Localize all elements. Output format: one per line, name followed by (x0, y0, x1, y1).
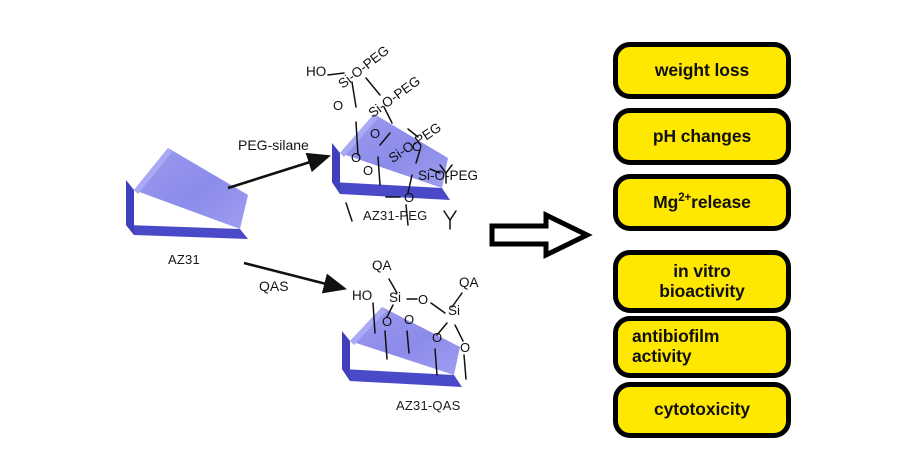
chem-label-si-qas-2: Si (448, 303, 460, 318)
chem-label-si-qas-1: Si (389, 290, 401, 305)
outcome-mg-symbol: Mg (653, 192, 678, 212)
outcome-box-weight-loss[interactable]: weight loss (613, 42, 791, 99)
outcome-label-in-vitro-bioactivity: in vitro bioactivity (659, 262, 744, 301)
chem-label-o-qas-4: O (432, 330, 442, 345)
chem-label-o-qas-1: O (418, 292, 428, 307)
outcome-line-activity: activity (632, 346, 692, 366)
plate-label-az31: AZ31 (168, 252, 200, 267)
chem-label-qa-1: QA (372, 258, 392, 273)
outcome-box-ph-changes[interactable]: pH changes (613, 108, 791, 165)
block-arrow-icon (490, 212, 590, 258)
outcome-line-bioactivity: bioactivity (659, 281, 744, 301)
arrow-label-peg-silane: PEG-silane (238, 137, 309, 153)
plate-label-az31-peg: AZ31-PEG (363, 208, 427, 223)
outcome-label-mg-release: Mg2+release (653, 192, 751, 212)
chem-label-o-peg-2: O (351, 150, 361, 165)
chem-label-o-peg-3: O (370, 126, 380, 141)
figure-canvas: AZ31 PEG-silane QAS (0, 0, 900, 459)
chem-label-o-qas-3: O (404, 312, 414, 327)
chem-label-o-peg-1: O (333, 98, 343, 113)
chem-label-ho-qas: HO (352, 288, 372, 303)
outcome-label-weight-loss: weight loss (655, 61, 749, 81)
arrow-label-qas: QAS (259, 278, 289, 294)
outcome-box-in-vitro-bioactivity[interactable]: in vitro bioactivity (613, 250, 791, 313)
chem-label-o-peg-4: O (412, 139, 422, 154)
outcome-box-cytotoxicity[interactable]: cytotoxicity (613, 382, 791, 438)
outcome-line-antibiofilm: antibiofilm (632, 326, 719, 346)
chem-label-o-peg-6: O (404, 190, 414, 205)
outcome-mg-charge: 2+ (678, 192, 691, 204)
outcome-label-antibiofilm-activity: antibiofilm activity (632, 327, 719, 366)
outcome-mg-tail: release (691, 192, 751, 212)
chem-label-ho-peg: HO (306, 64, 326, 79)
chem-label-si-o-peg-4: Si-O-PEG (418, 168, 478, 183)
outcome-label-cytotoxicity: cytotoxicity (654, 400, 750, 420)
chem-label-o-qas-5: O (460, 340, 470, 355)
chem-label-o-qas-2: O (382, 314, 392, 329)
chem-label-o-peg-5: O (363, 163, 373, 178)
outcome-line-in-vitro: in vitro (673, 261, 731, 281)
outcome-label-ph-changes: pH changes (653, 127, 751, 147)
plate-label-az31-qas: AZ31-QAS (396, 398, 460, 413)
outcome-box-antibiofilm-activity[interactable]: antibiofilm activity (613, 316, 791, 378)
chem-label-qa-2: QA (459, 275, 479, 290)
outcome-box-mg-release[interactable]: Mg2+release (613, 174, 791, 231)
